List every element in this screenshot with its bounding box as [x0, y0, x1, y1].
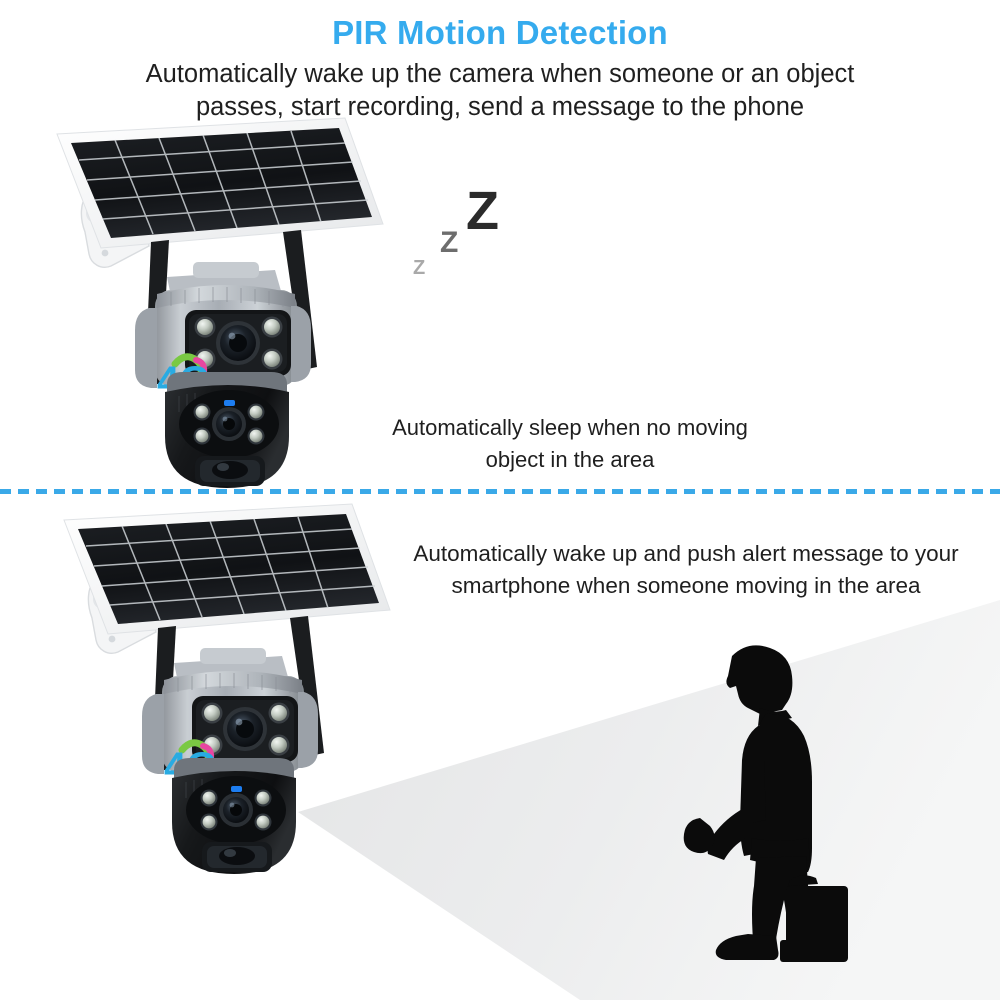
camera-device-sleep: 4G [45, 112, 395, 492]
solar-panel [57, 118, 383, 248]
status-led [224, 400, 235, 406]
infographic-page: PIR Motion Detection Automatically wake … [0, 0, 1000, 1000]
solar-panel [64, 504, 390, 634]
wake-caption: Automatically wake up and push alert mes… [372, 538, 1000, 602]
person-silhouette [640, 640, 890, 970]
lower-ptz-dome [172, 758, 296, 874]
sleep-caption: Automatically sleep when no moving objec… [390, 412, 750, 476]
status-led [231, 786, 242, 792]
sleep-z-small: Z [413, 258, 425, 278]
sleep-z-medium: Z [440, 228, 458, 258]
lower-ptz-dome [165, 372, 289, 488]
sleep-z-large: Z [466, 184, 499, 238]
section-divider [0, 489, 1000, 494]
briefcase [780, 875, 848, 962]
page-title: PIR Motion Detection [0, 14, 1000, 52]
camera-device-wake: 4G [52, 498, 402, 878]
